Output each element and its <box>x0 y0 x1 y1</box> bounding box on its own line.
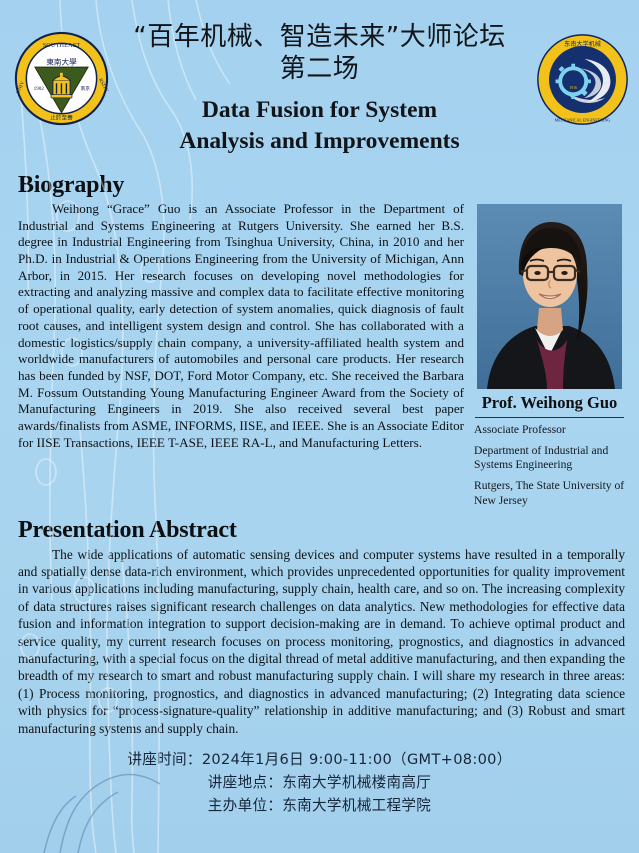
event-location: 讲座地点：东南大学机械楼南高厅 <box>0 772 639 795</box>
title-chinese-line2: 第二场 <box>112 54 527 86</box>
poster-header: SOUTHEAST 止於至善 東南大學 1902 南京 UNIV RSITY <box>0 0 639 172</box>
event-time: 讲座时间：2024年1月6日 9:00-11:00（GMT+08:00） <box>0 749 639 772</box>
svg-text:1902: 1902 <box>34 86 45 92</box>
school-of-mechanical-engineering-seal-icon: 1916 东南大学机械 MECHANICAL ENGINEERING <box>536 33 629 126</box>
title-chinese-line1: “百年机械、智造未来”大师论坛 <box>133 22 505 52</box>
svg-text:東南大學: 東南大學 <box>46 56 77 66</box>
svg-text:SOUTHEAST: SOUTHEAST <box>43 43 81 49</box>
biography-section: Prof. Weihong Guo Associate Professor De… <box>0 201 639 517</box>
southeast-university-seal-icon: SOUTHEAST 止於至善 東南大學 1902 南京 UNIV RSITY <box>14 31 109 126</box>
speaker-name: Prof. Weihong Guo <box>474 393 625 413</box>
speaker-affiliation: Associate Professor Department of Indust… <box>474 423 625 509</box>
speaker-title: Associate Professor <box>474 423 625 438</box>
event-organizer: 主办单位：东南大学机械工程学院 <box>0 795 639 818</box>
title-english: Data Fusion for System Analysis and Impr… <box>112 95 527 157</box>
title-english-line2: Analysis and Improvements <box>112 126 527 157</box>
svg-text:1916: 1916 <box>569 86 577 90</box>
biography-heading: Biography <box>18 172 639 199</box>
speaker-department: Department of Industrial and Systems Eng… <box>474 444 625 473</box>
speaker-card: Prof. Weihong Guo Associate Professor De… <box>474 204 625 515</box>
title-english-line1: Data Fusion for System <box>112 95 527 126</box>
event-details: 讲座时间：2024年1月6日 9:00-11:00（GMT+08:00） 讲座地… <box>0 749 639 818</box>
abstract-section: The wide applications of automatic sensi… <box>0 546 639 737</box>
speaker-photo <box>477 204 622 389</box>
speaker-institution: Rutgers, The State University of New Jer… <box>474 479 625 508</box>
poster-title-block: “百年机械、智造未来”大师论坛 第二场 Data Fusion for Syst… <box>112 22 527 157</box>
svg-text:MECHANICAL ENGINEERING: MECHANICAL ENGINEERING <box>555 117 611 122</box>
title-chinese: “百年机械、智造未来”大师论坛 第二场 <box>112 22 527 85</box>
abstract-heading: Presentation Abstract <box>18 517 639 544</box>
svg-text:东南大学机械: 东南大学机械 <box>564 40 601 48</box>
poster-root: SOUTHEAST 止於至善 東南大學 1902 南京 UNIV RSITY <box>0 0 639 853</box>
speaker-divider <box>475 417 624 418</box>
abstract-text: The wide applications of automatic sensi… <box>18 546 625 737</box>
svg-text:止於至善: 止於至善 <box>50 113 73 121</box>
